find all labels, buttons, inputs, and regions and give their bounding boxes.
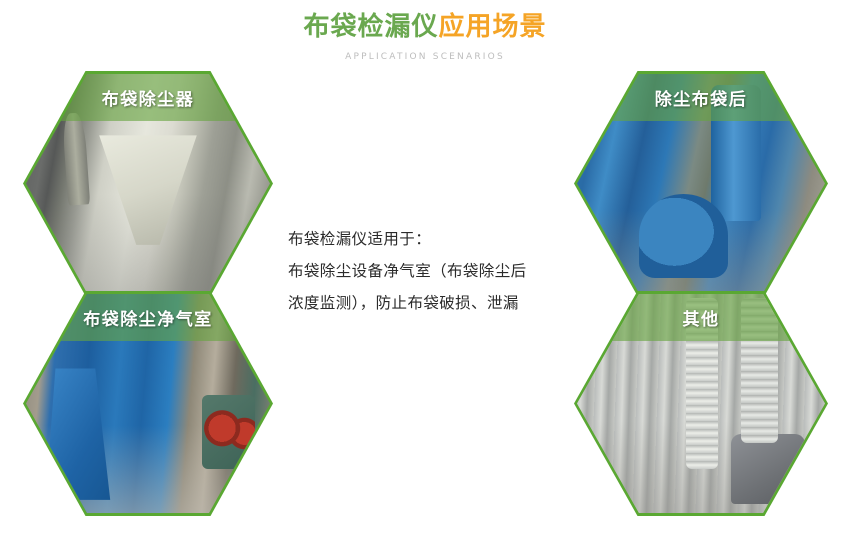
hex-tile-clip: 除尘布袋后 bbox=[577, 74, 825, 293]
description-block: 布袋检漏仪适用于： 布袋除尘设备净气室（布袋除尘后 浓度监测），防止布袋破损、泄… bbox=[288, 224, 566, 319]
blower-shape bbox=[731, 434, 805, 504]
page-title-primary: 布袋检漏仪 bbox=[303, 12, 438, 42]
page-title-accent: 应用场景 bbox=[439, 12, 547, 42]
hex-tile-label: 布袋除尘器 bbox=[26, 85, 270, 110]
hex-tile-label: 布袋除尘净气室 bbox=[26, 305, 270, 330]
page-subtitle: APPLICATION SCENARIOS bbox=[0, 52, 850, 62]
hex-tile-label: 除尘布袋后 bbox=[577, 85, 825, 110]
page-title: 布袋检漏仪应用场景 bbox=[0, 0, 850, 40]
description-line-1: 布袋检漏仪适用于： bbox=[288, 224, 566, 256]
hex-tile-top-right[interactable]: 除尘布袋后 bbox=[574, 71, 828, 296]
page-header: 布袋检漏仪应用场景 APPLICATION SCENARIOS bbox=[0, 0, 850, 62]
hex-tile-label: 其他 bbox=[577, 305, 825, 330]
hex-tile-clip: 布袋除尘净气室 bbox=[26, 294, 270, 513]
hex-tile-clip: 布袋除尘器 bbox=[26, 74, 270, 293]
hex-tile-top-left[interactable]: 布袋除尘器 bbox=[23, 71, 273, 296]
hex-tile-bottom-right[interactable]: 其他 bbox=[574, 291, 828, 516]
description-line-3: 浓度监测），防止布袋破损、泄漏 bbox=[288, 288, 566, 320]
support-beam-shape bbox=[780, 491, 825, 511]
hex-tile-clip: 其他 bbox=[577, 294, 825, 513]
hex-tile-bottom-left[interactable]: 布袋除尘净气室 bbox=[23, 291, 273, 516]
description-line-2: 布袋除尘设备净气室（布袋除尘后 bbox=[288, 256, 566, 288]
